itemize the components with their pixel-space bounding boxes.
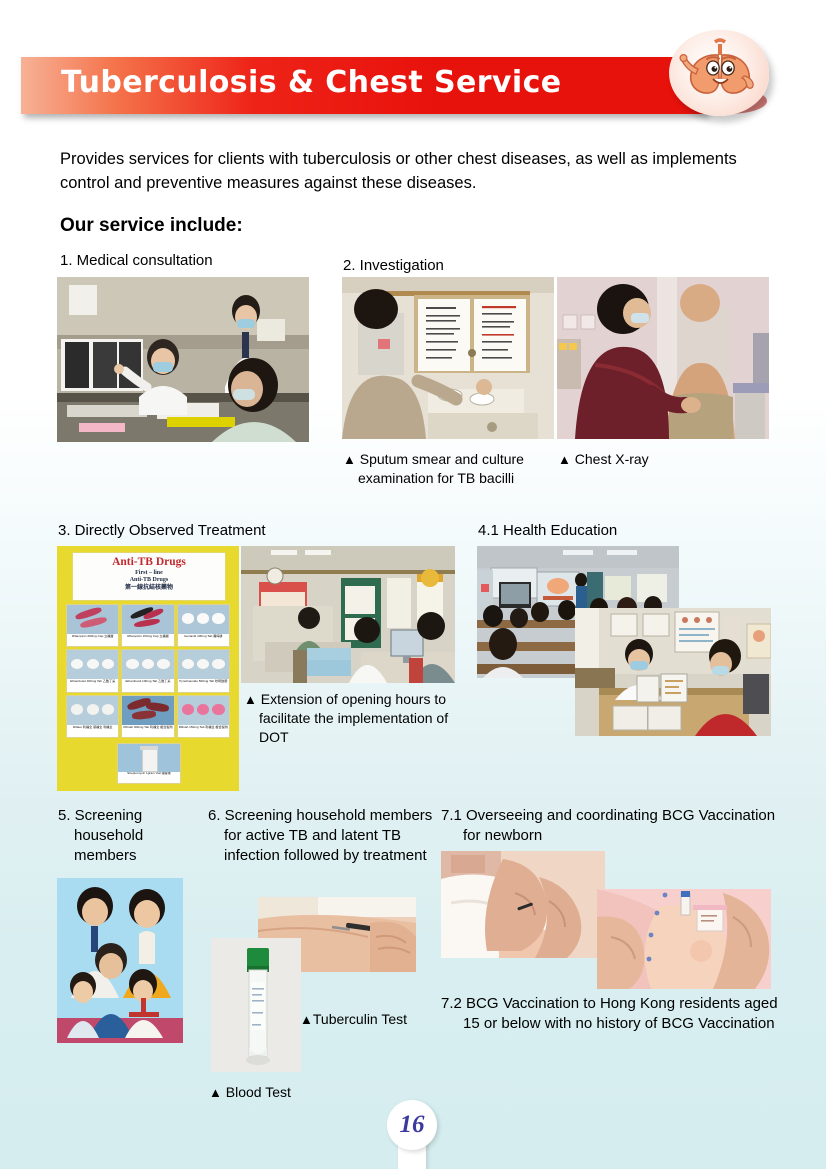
mascot-lungs-icon [665,28,773,120]
bcg-vaccination-newborn-photo-2 [597,889,771,989]
page-number: 16 [387,1100,437,1150]
page-title: Tuberculosis & Chest Service [61,65,562,100]
drug-cell: Rifampicin 150mg Cap 立福齎 [121,604,174,648]
blood-collection-tube-photo [211,938,301,1072]
drug-label-vial: Streptomycin 1gram Vial 鏈霉素 [118,772,180,783]
poster-subtitle: First – line Anti-TB Drugs 第一線抗結核藥物 [73,570,226,593]
triangle-marker-icon: ▲ [300,1012,313,1027]
section-label-screening-active-latent: 6. Screening household members for activ… [208,806,439,866]
triangle-marker-icon: ▲ [343,452,356,467]
drug-cell-vial: Streptomycin 1gram Vial 鏈霉素 [117,743,181,784]
poster-subtitle-1: First – line [135,570,163,576]
drug-cell: Isoniazid 100mg Tab 異烸肼 [177,604,230,648]
caption-sputum-smear: ▲ Sputum smear and culture examination f… [343,450,558,488]
caption-blood-text: Blood Test [226,1084,291,1100]
page-header-banner: Tuberculosis & Chest Service [21,57,706,114]
poster-title: Anti-TB Drugs [73,556,226,568]
services-heading: Our service include: [60,215,243,237]
section-label-screening-household: 5. Screening household members [58,806,204,866]
drug-label: Ethambutol 400mg Tab 乙敵丁采 [67,679,118,691]
anti-tb-drugs-poster-photo: Anti-TB Drugs First – line Anti-TB Drugs… [57,546,239,791]
drug-label: Ethambutol 100mg Tab 乙敵丁采 [122,679,173,691]
caption-xray-text: Chest X-ray [575,451,649,467]
drug-cell: Rifinah 150mg Tab 利福全 複合製劑 [177,695,230,739]
bcg-vaccination-newborn-photo-1 [441,851,605,958]
drug-label: Isoniazid 100mg Tab 異烸肼 [178,634,229,646]
poster-subtitle-2: Anti-TB Drugs [130,577,169,583]
triangle-marker-icon: ▲ [209,1085,222,1100]
medical-consultation-photo [57,277,309,442]
caption-chest-xray: ▲ Chest X-ray [558,450,783,469]
caption-blood-test: ▲ Blood Test [209,1083,389,1102]
caption-tuberculin-test: ▲Tuberculin Test [300,1010,425,1029]
caption-tuberculin-text: Tuberculin Test [313,1011,407,1027]
section-label-health-education: 4.1 Health Education [478,521,778,541]
poster-subtitle-3: 第一線抗結核藥物 [125,585,173,591]
household-family-photo [57,878,183,1043]
section-label-bcg-residents: 7.2 BCG Vaccination to Hong Kong residen… [441,994,793,1034]
caption-dot-extension: ▲ Extension of opening hours to facilita… [244,690,464,747]
drug-cell: Rifater 利福全 丽福全 利福全 [66,695,119,739]
section-label-bcg-newborn: 7.1 Overseeing and coordinating BCG Vacc… [441,806,793,846]
drug-cell: Rifampicin 300mg Cap 立福齎 [66,604,119,648]
triangle-marker-icon: ▲ [244,692,257,707]
section-label-medical-consultation: 1. Medical consultation [60,251,330,271]
section-label-directly-observed-treatment: 3. Directly Observed Treatment [58,521,388,541]
sputum-smear-lab-photo [342,277,554,439]
drug-label: Rifater 利福全 丽福全 利福全 [67,725,118,737]
section-label-investigation: 2. Investigation [343,256,593,276]
health-education-counselling-photo [575,608,771,736]
drug-label: Rifampicin 150mg Cap 立福齎 [122,634,173,646]
drug-cell: Rifinah 300mg Tab 利福全 複合製劑 [121,695,174,739]
page-root: Tuberculosis & Chest Service [0,0,826,1169]
triangle-marker-icon: ▲ [558,452,571,467]
dot-clinic-photo [241,546,455,683]
drug-label: Rifinah 150mg Tab 利福全 複合製劑 [178,725,229,737]
chest-xray-examination-photo [557,277,769,439]
caption-dot-text: Extension of opening hours to facilitate… [259,691,448,745]
drug-label: Rifampicin 300mg Cap 立福齎 [67,634,118,646]
drug-label: Rifinah 300mg Tab 利福全 複合製劑 [122,725,173,737]
drug-cell: Ethambutol 100mg Tab 乙敵丁采 [121,649,174,693]
lungs-character-svg [665,28,773,120]
poster-title-box: Anti-TB Drugs First – line Anti-TB Drugs… [72,552,227,601]
intro-paragraph: Provides services for clients with tuber… [60,148,780,196]
caption-sputum-text: Sputum smear and culture examination for… [358,451,524,486]
drug-label: Pyrazinamide 500mg Tab 吩唷酞胺 [178,679,229,691]
drug-cell: Pyrazinamide 500mg Tab 吩唷酞胺 [177,649,230,693]
drug-photo-grid: Rifampicin 300mg Cap 立福齎 Rifampicin 150m… [66,604,230,739]
drug-cell: Ethambutol 400mg Tab 乙敵丁采 [66,649,119,693]
